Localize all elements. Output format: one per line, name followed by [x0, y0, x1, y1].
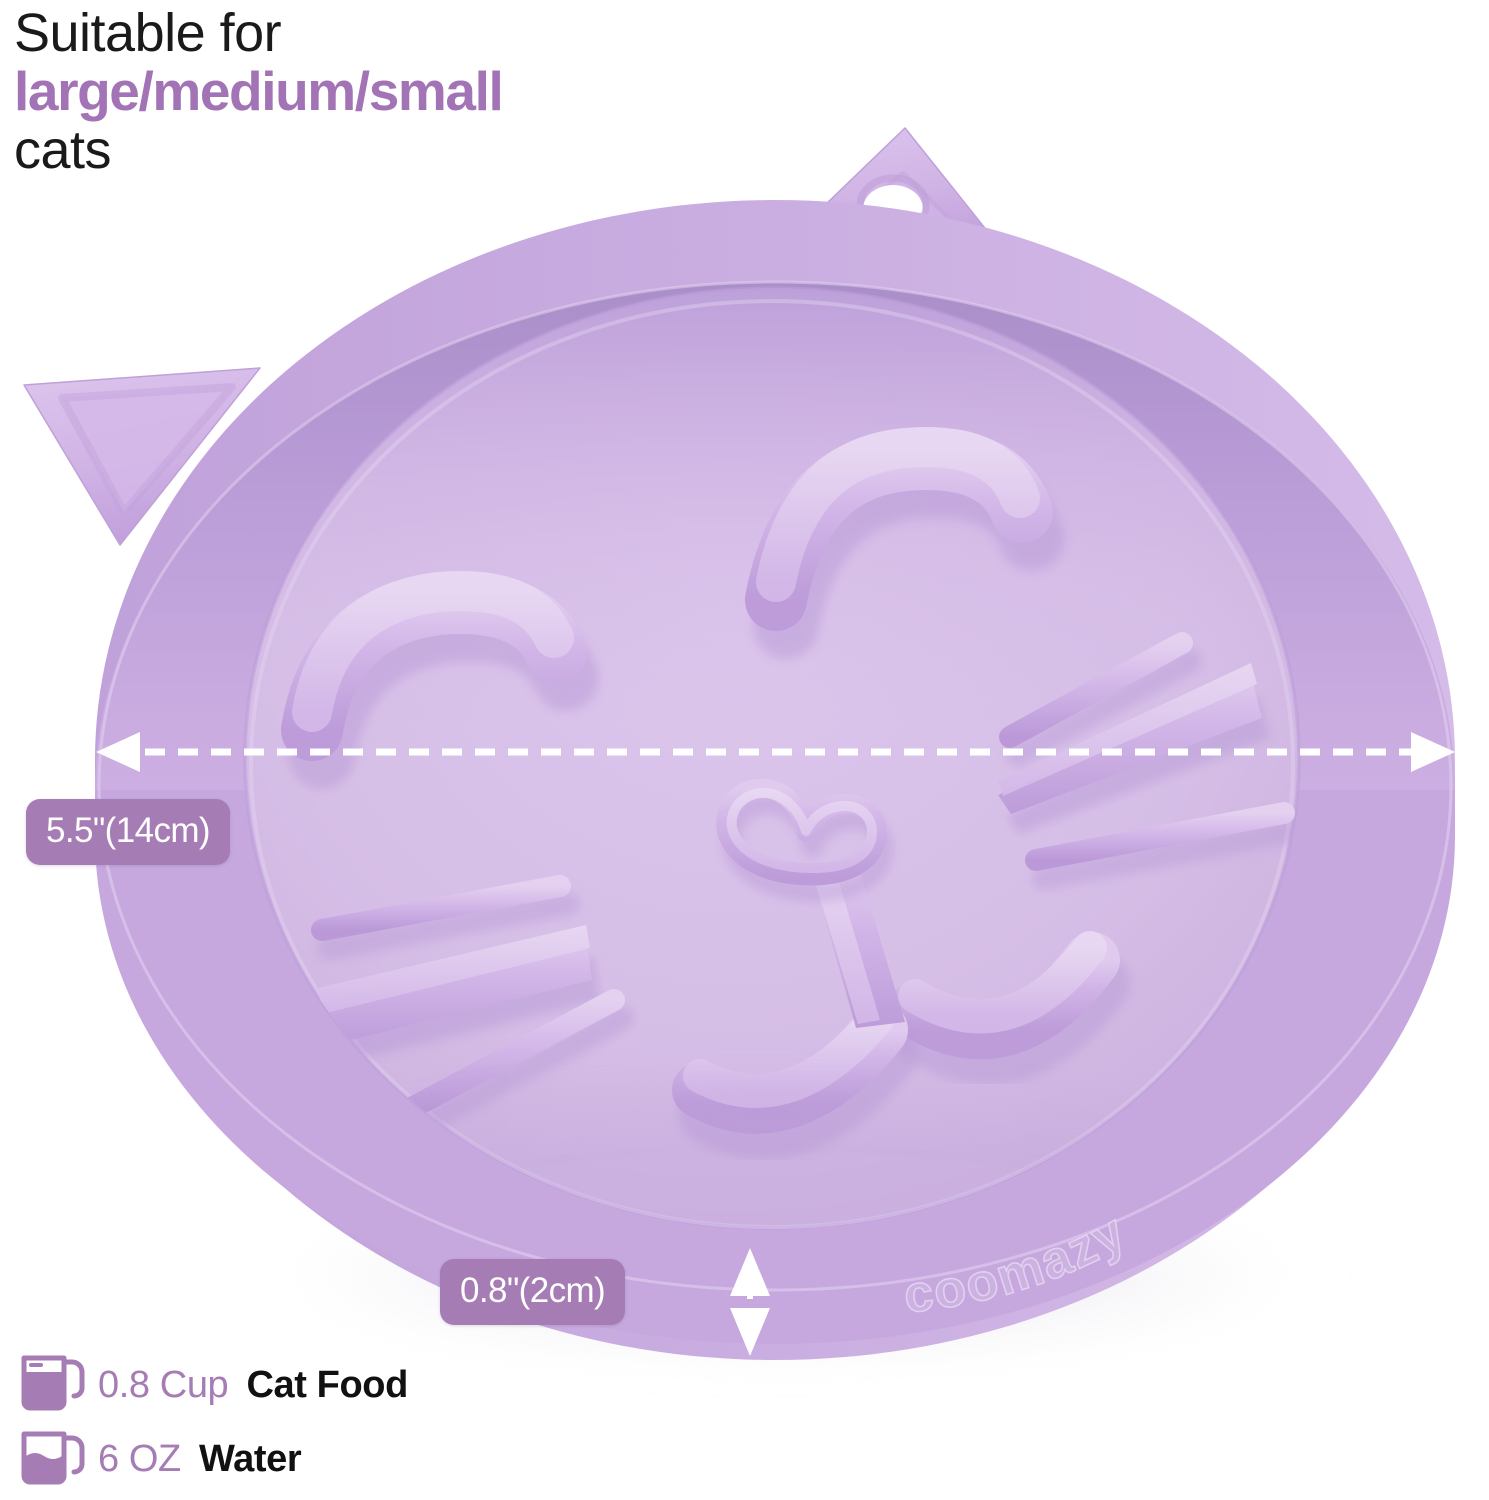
- capacity-label-food: Cat Food: [246, 1364, 407, 1406]
- capacity-amount-water: 6 OZ: [98, 1438, 181, 1480]
- capacity-row-food: 0.8 Cup Cat Food: [18, 1348, 408, 1422]
- height-dimension-badge: 0.8"(2cm): [440, 1259, 625, 1325]
- measuring-cup-icon: [18, 1352, 92, 1418]
- capacity-row-water: 6 OZ Water: [18, 1422, 408, 1496]
- heading-line-3: cats: [14, 123, 844, 178]
- measuring-cup-icon: [18, 1426, 92, 1492]
- heading-line-2-highlight: large/medium/small: [14, 63, 844, 119]
- heading-block: Suitable for large/medium/small cats: [14, 2, 844, 178]
- capacity-legend: 0.8 Cup Cat Food 6 OZ Water: [18, 1348, 408, 1496]
- product-image: coomazy: [0, 0, 1489, 1500]
- capacity-label-water: Water: [199, 1438, 301, 1480]
- capacity-amount-food: 0.8 Cup: [98, 1364, 228, 1406]
- heading-line-1: Suitable for: [14, 6, 844, 61]
- width-dimension-badge: 5.5"(14cm): [26, 799, 230, 865]
